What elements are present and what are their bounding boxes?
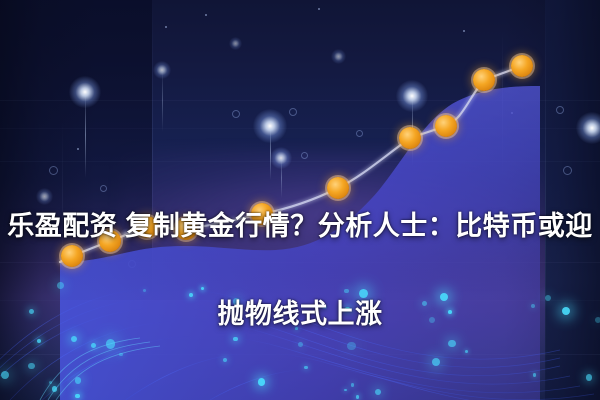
particle bbox=[351, 383, 355, 387]
particle bbox=[52, 386, 57, 391]
headline-line-1: 乐盈配资 复制黄金行情？分析人士：比特币或迎 bbox=[0, 204, 600, 248]
headline-text: 乐盈配资 复制黄金行情？分析人士：比特币或迎 抛物线式上涨 bbox=[0, 160, 600, 380]
particle bbox=[75, 394, 79, 398]
particle bbox=[356, 395, 359, 398]
particle bbox=[344, 389, 347, 392]
thumbnail-banner: 乐盈配资 复制黄金行情？分析人士：比特币或迎 抛物线式上涨 bbox=[0, 0, 600, 400]
headline-line-2: 抛物线式上涨 bbox=[0, 292, 600, 336]
particle bbox=[49, 381, 52, 384]
particle bbox=[375, 389, 382, 396]
